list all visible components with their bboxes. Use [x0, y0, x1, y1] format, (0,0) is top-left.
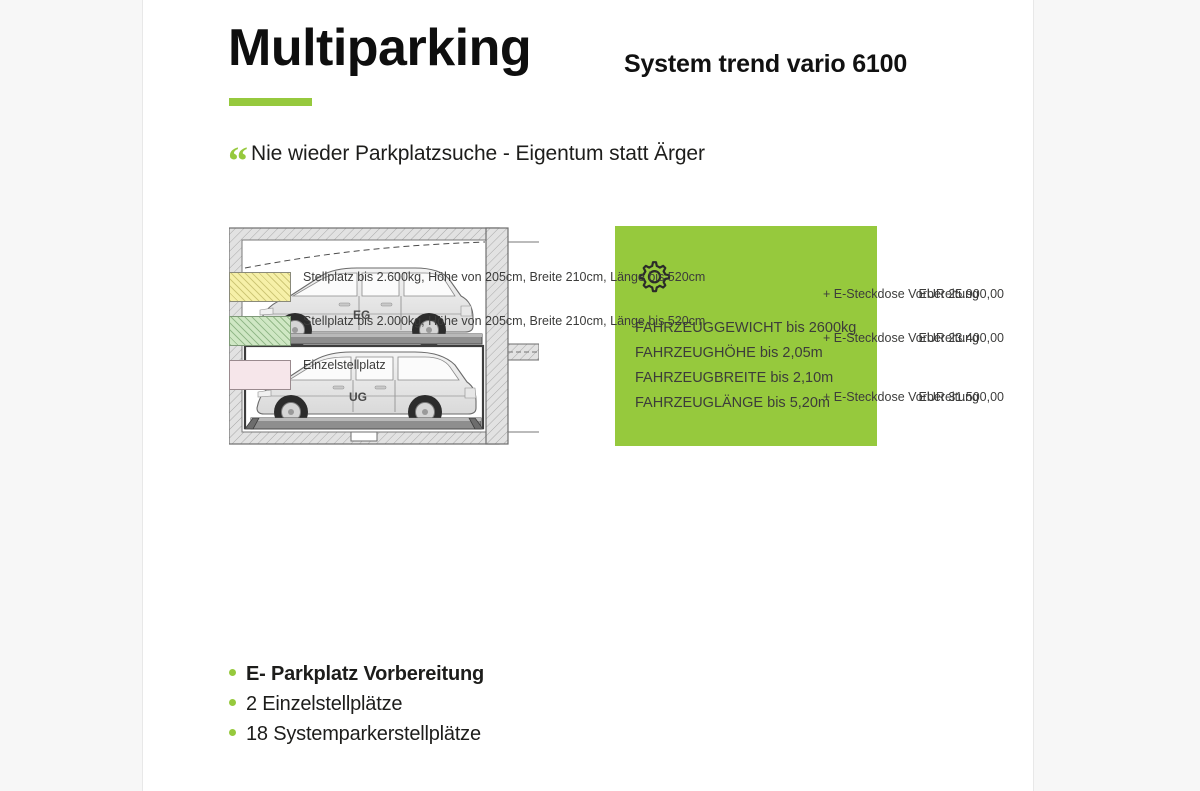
list-item: E- Parkplatz Vorbereitung [229, 663, 484, 693]
quote-row: “ Nie wieder Parkplatzsuche - Eigentum s… [228, 137, 705, 171]
legend-price: EUR 31.500,00 [864, 390, 1004, 404]
bullet-dot-icon [229, 669, 236, 676]
bullet-dot-icon [229, 729, 236, 736]
list-item-label: 2 Einzelstellplätze [246, 693, 402, 716]
system-subtitle: System trend vario 6100 [624, 50, 907, 79]
legend-description: Stellplatz bis 2.000kg, Höhe von 205cm, … [303, 314, 705, 328]
list-item-label: E- Parkplatz Vorbereitung [246, 663, 484, 686]
list-item: 18 Systemparkerstellplätze [229, 723, 484, 753]
price-legend-table: Stellplatz bis 2.600kg, Höhe von 205cm, … [229, 272, 1004, 404]
list-item-label: 18 Systemparkerstellplätze [246, 723, 481, 746]
legend-swatch [229, 316, 291, 346]
legend-row: Stellplatz bis 2.600kg, Höhe von 205cm, … [229, 272, 1004, 316]
quote-text: Nie wieder Parkplatzsuche - Eigentum sta… [251, 142, 705, 166]
page-header: Multiparking System trend vario 6100 [228, 22, 988, 114]
list-item: 2 Einzelstellplätze [229, 693, 484, 723]
page-title: Multiparking [228, 22, 531, 74]
feature-bullet-list: E- Parkplatz Vorbereitung 2 Einzelstellp… [229, 663, 484, 753]
legend-swatch [229, 360, 291, 390]
legend-description: Stellplatz bis 2.600kg, Höhe von 205cm, … [303, 270, 705, 284]
legend-swatch [229, 272, 291, 302]
legend-price: EUR 23.400,00 [864, 331, 1004, 345]
document-page: Multiparking System trend vario 6100 “ N… [143, 0, 1033, 791]
legend-price: EUR 25.900,00 [864, 287, 1004, 301]
legend-row: Stellplatz bis 2.000kg, Höhe von 205cm, … [229, 316, 1004, 360]
bullet-dot-icon [229, 699, 236, 706]
legend-description: Einzelstellplatz [303, 358, 386, 372]
quote-mark-icon: “ [228, 150, 248, 172]
legend-row: Einzelstellplatz + E-Steckdose Vorbereit… [229, 360, 1004, 404]
accent-bar [229, 98, 312, 106]
